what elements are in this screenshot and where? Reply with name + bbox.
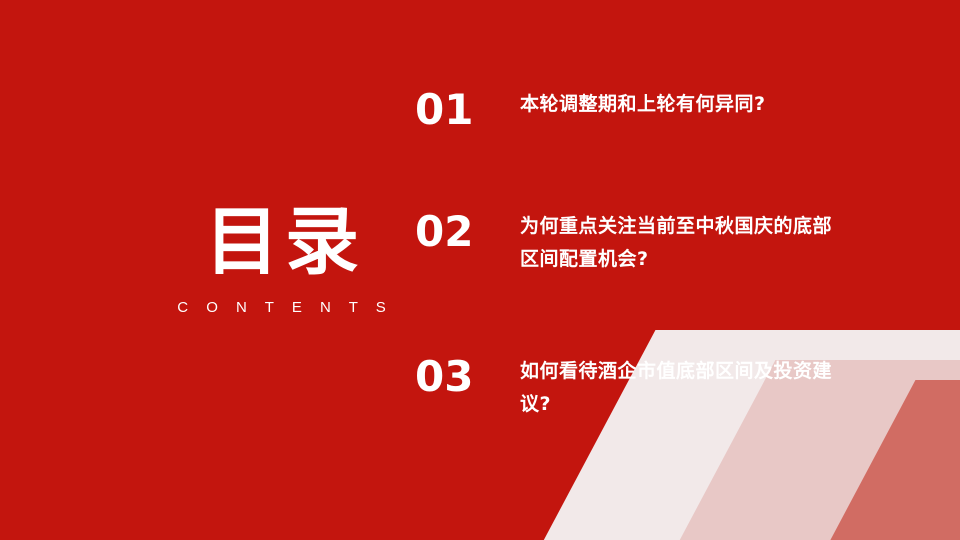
toc-item-label: 如何看待酒企市值底部区间及投资建议? (520, 355, 840, 422)
toc-item-label: 本轮调整期和上轮有何异同? (520, 88, 766, 121)
toc-item-number: 01 (415, 88, 520, 132)
slide-canvas: 目录 C O N T E N T S 01 本轮调整期和上轮有何异同? 02 为… (0, 0, 960, 540)
toc-item-label: 为何重点关注当前至中秋国庆的底部区间配置机会? (520, 210, 840, 277)
page-title: 目录 (150, 205, 420, 279)
list-item[interactable]: 03 如何看待酒企市值底部区间及投资建议? (415, 355, 895, 422)
toc-item-number: 02 (415, 210, 520, 254)
table-of-contents: 01 本轮调整期和上轮有何异同? 02 为何重点关注当前至中秋国庆的底部区间配置… (415, 70, 895, 471)
list-item[interactable]: 02 为何重点关注当前至中秋国庆的底部区间配置机会? (415, 210, 895, 277)
toc-item-number: 03 (415, 355, 520, 399)
page-subtitle: C O N T E N T S (150, 299, 420, 316)
toc-heading-block: 目录 C O N T E N T S (150, 205, 420, 316)
list-item[interactable]: 01 本轮调整期和上轮有何异同? (415, 88, 895, 132)
